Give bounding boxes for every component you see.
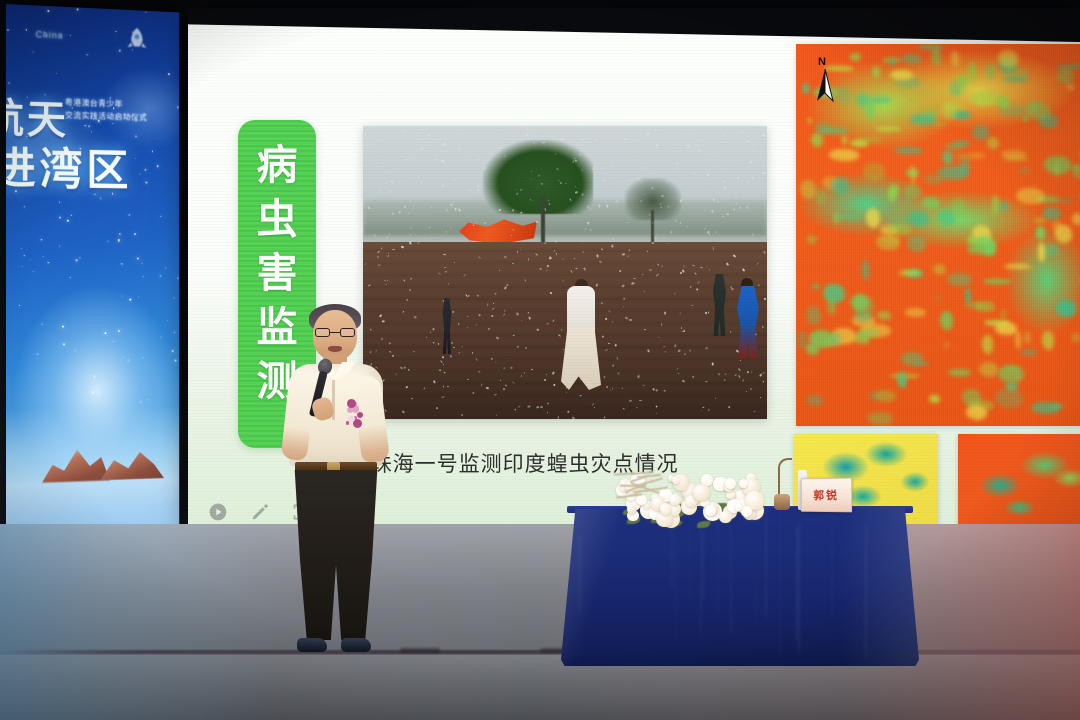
slide-title-char: 害 — [257, 246, 298, 300]
satellite-image-small-2 — [958, 434, 1080, 526]
head-table — [561, 506, 919, 672]
poster-logo-text: China — [36, 29, 64, 40]
poster-title-line-2: 进湾区 — [6, 132, 132, 198]
poster-logo: China — [32, 19, 157, 58]
name-placard-text: 郭锐 — [813, 487, 839, 503]
satellite-image-main: N — [796, 44, 1080, 426]
presenter — [283, 302, 391, 660]
presenter-shoe — [341, 638, 371, 652]
mountain-peak-icon — [100, 445, 165, 480]
flower-arrangement — [613, 472, 763, 524]
name-placard: 郭锐 — [801, 478, 852, 513]
farmer-figure — [561, 286, 601, 390]
table-cloth — [561, 506, 919, 666]
locust-swarm-photo — [363, 126, 767, 419]
rocket-icon — [123, 25, 151, 56]
slide-title-char: 虫 — [257, 192, 298, 246]
table-microphone-icon — [768, 458, 794, 512]
slide-title-char: 病 — [257, 138, 298, 192]
glasses-icon — [315, 328, 355, 337]
presenter-shoe — [297, 638, 327, 652]
corsage-icon — [345, 398, 362, 428]
floor-debris — [400, 648, 440, 653]
satellite-noise-overlay — [796, 44, 1080, 426]
play-icon[interactable] — [208, 502, 228, 522]
event-roll-up-banner: China 航天 进湾区 粤港澳台青少年 交流实践活动启动仪式 — [6, 4, 179, 560]
presenter-trousers — [293, 470, 379, 640]
stage-scene: China 航天 进湾区 粤港澳台青少年 交流实践活动启动仪式 病 — [0, 0, 1080, 720]
poster-subtitle: 粤港澳台青少年 交流实践活动启动仪式 — [65, 96, 172, 125]
pen-icon[interactable] — [250, 502, 270, 522]
presenter-mouth — [328, 346, 342, 352]
compass-north-icon: N — [812, 58, 838, 102]
compass-label: N — [818, 56, 826, 68]
